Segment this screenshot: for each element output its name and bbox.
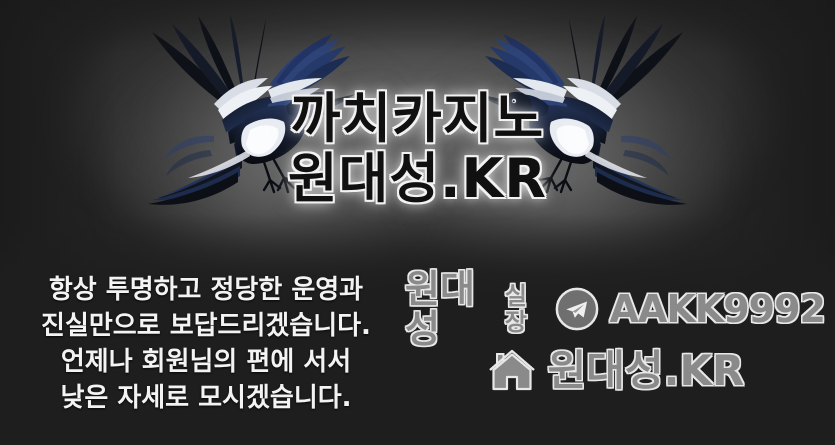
slogan-line-1: 항상 투명하고 정당한 운영과 (16, 272, 396, 308)
manager-name: 원대성 (405, 269, 497, 349)
logo-title-line2: 원대성.KR (0, 148, 835, 210)
slogan-line-2: 진실만으로 보답드리겠습니다. (16, 308, 396, 344)
slogan-block: 항상 투명하고 정당한 운영과 진실만으로 보답드리겠습니다. 언제나 회원님의… (16, 272, 396, 416)
magpie-bird-icon-left (118, 8, 363, 213)
contact-block: 원대성 실장 AAKK9992 원대성.KR (405, 278, 825, 402)
slogan-line-3: 언제나 회원님의 편에 서서 (16, 344, 396, 380)
manager-title: 실장 (505, 283, 544, 335)
background-glow-center (58, 0, 778, 268)
contact-row-telegram[interactable]: 원대성 실장 AAKK9992 (405, 278, 825, 340)
background-glow-left (120, 60, 420, 290)
home-icon[interactable] (486, 348, 538, 394)
telegram-handle[interactable]: AAKK9992 (610, 289, 825, 329)
background-glow-right (415, 60, 715, 290)
logo-wordmark: 까치카지노 원대성.KR (0, 90, 835, 210)
logo-title-line1: 까치카지노 (0, 90, 835, 148)
magpie-bird-icon-right (472, 8, 717, 213)
telegram-icon[interactable] (554, 286, 600, 332)
casino-promo-banner: 까치카지노 원대성.KR 항상 투명하고 정당한 운영과 진실만으로 보답드리겠… (0, 0, 835, 445)
website-name[interactable]: 원대성.KR (548, 349, 745, 393)
contact-row-website[interactable]: 원대성.KR (405, 340, 825, 402)
slogan-line-4: 낮은 자세로 모시겠습니다. (16, 380, 396, 416)
